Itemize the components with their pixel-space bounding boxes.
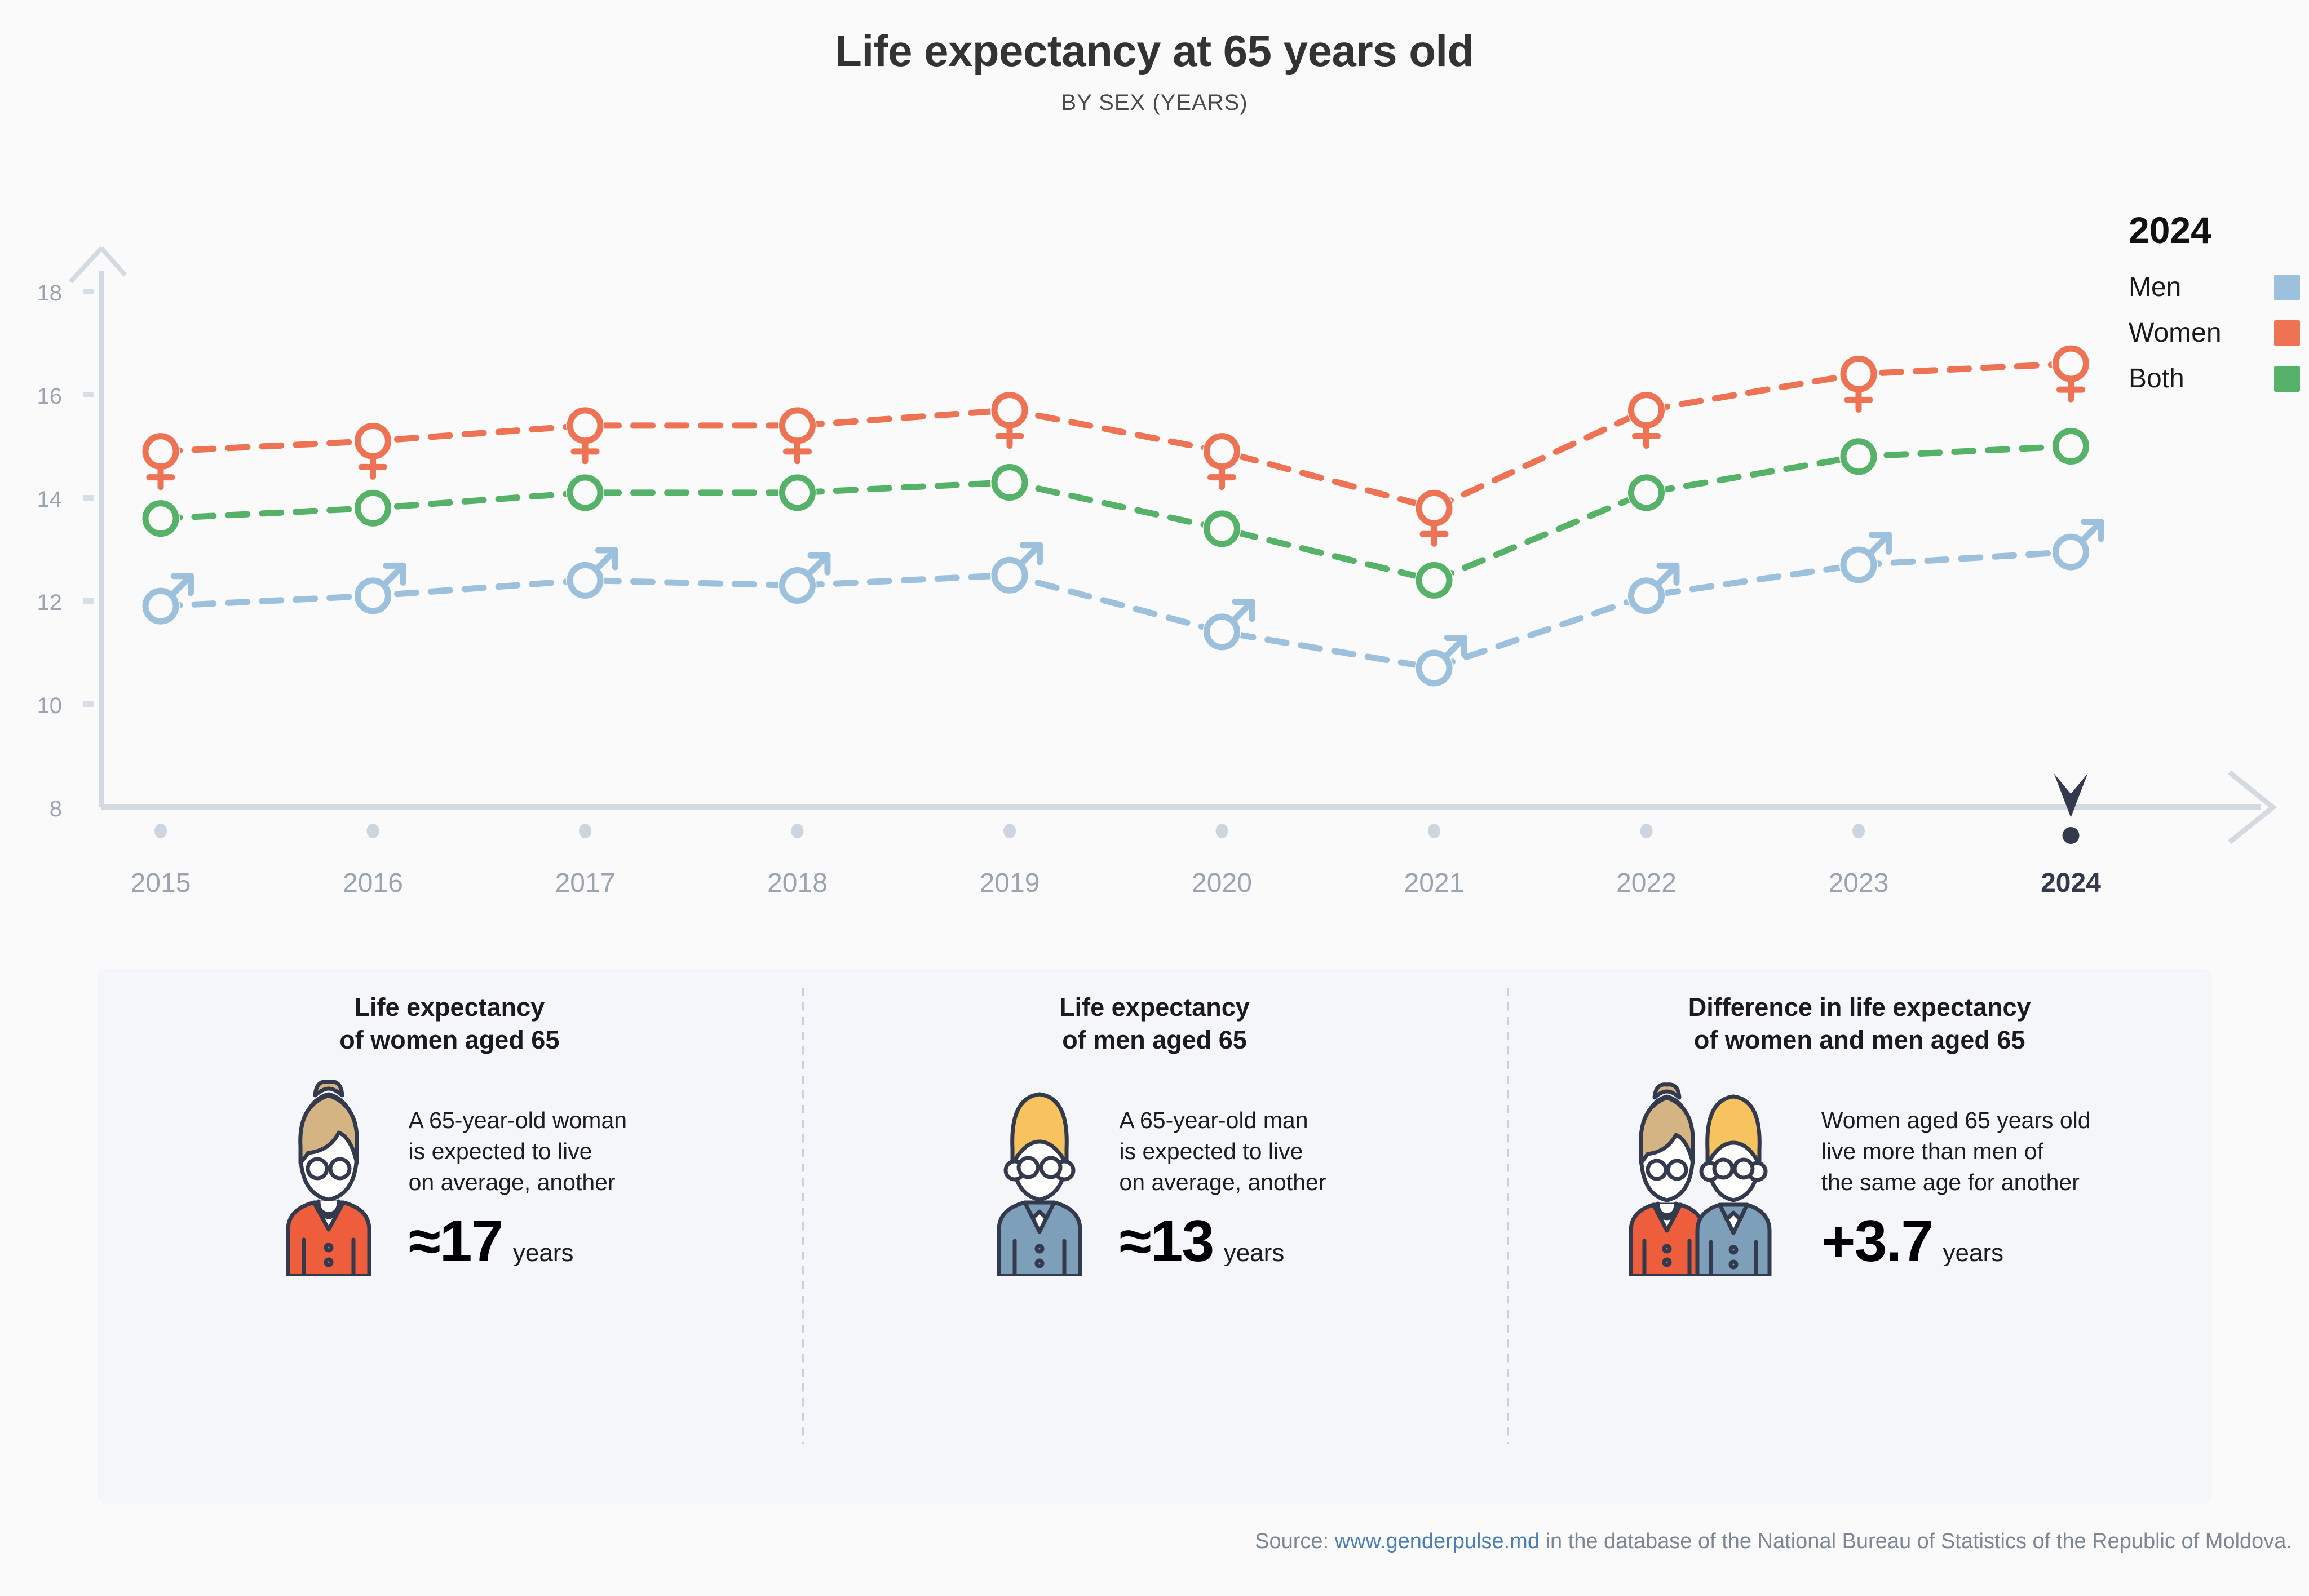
- card-title-line1: Difference in life expectancy: [1512, 991, 2206, 1024]
- card-men: Life expectancy of men aged 65: [802, 969, 1507, 1504]
- card-desc-line3: on average, another: [1120, 1167, 1326, 1198]
- svg-text:10: 10: [37, 693, 63, 718]
- card-desc-line2: is expected to live: [1120, 1136, 1326, 1167]
- svg-text:2015: 2015: [131, 868, 191, 898]
- svg-text:12: 12: [37, 590, 63, 615]
- source-prefix: Source:: [1255, 1529, 1335, 1553]
- source-suffix: in the database of the National Bureau o…: [1540, 1529, 2292, 1553]
- card-desc-line2: live more than men of: [1821, 1136, 2091, 1167]
- summary-panel: Life expectancy of women aged 65: [97, 969, 2212, 1504]
- legend-label-both: Both: [2129, 363, 2184, 394]
- source-link[interactable]: www.genderpulse.md: [1335, 1529, 1540, 1553]
- stat-value: +3.7: [1821, 1209, 1932, 1274]
- card-title-men: Life expectancy of men aged 65: [808, 991, 1502, 1056]
- card-text-men: A 65-year-old man is expected to live on…: [1120, 1105, 1326, 1279]
- card-title-women: Life expectancy of women aged 65: [103, 991, 797, 1056]
- card-body-men: A 65-year-old man is expected to live on…: [808, 1078, 1502, 1279]
- card-desc-line3: on average, another: [409, 1167, 627, 1198]
- card-women: Life expectancy of women aged 65: [97, 969, 802, 1504]
- infographic-root: Life expectancy at 65 years old BY SEX (…: [0, 0, 2309, 1596]
- svg-text:16: 16: [37, 384, 63, 409]
- legend-label-women: Women: [2129, 317, 2222, 348]
- svg-text:2019: 2019: [980, 868, 1040, 898]
- card-stat-men: ≈13 years: [1120, 1208, 1326, 1275]
- page-title: Life expectancy at 65 years old: [0, 25, 2309, 77]
- card-desc-line1: A 65-year-old man: [1120, 1105, 1326, 1136]
- svg-text:2016: 2016: [343, 868, 403, 898]
- card-body-difference: Women aged 65 years old live more than m…: [1512, 1078, 2206, 1279]
- card-text-difference: Women aged 65 years old live more than m…: [1821, 1105, 2091, 1279]
- stat-unit: years: [1943, 1239, 2004, 1267]
- svg-text:2017: 2017: [555, 868, 616, 898]
- card-title-line2: of women aged 65: [103, 1024, 797, 1056]
- stat-value: ≈13: [1120, 1209, 1214, 1274]
- card-stat-difference: +3.7 years: [1821, 1208, 2091, 1275]
- legend-item-both[interactable]: Both: [2125, 363, 2300, 394]
- summary-cards: Life expectancy of women aged 65: [97, 969, 2212, 1504]
- svg-text:2022: 2022: [1616, 868, 1677, 898]
- source-note: Source: www.genderpulse.md in the databa…: [1255, 1529, 2292, 1554]
- card-body-women: A 65-year-old woman is expected to live …: [103, 1078, 797, 1279]
- svg-text:8: 8: [50, 797, 62, 821]
- card-title-line2: of men aged 65: [808, 1024, 1502, 1056]
- card-title-difference: Difference in life expectancy of women a…: [1512, 991, 2206, 1056]
- legend-swatch-women: [2274, 320, 2300, 346]
- line-chart: 8101214161820152016201720182019202020212…: [0, 186, 2309, 936]
- card-desc-line1: Women aged 65 years old: [1821, 1105, 2091, 1136]
- card-title-line1: Life expectancy: [103, 991, 797, 1024]
- card-desc-line2: is expected to live: [409, 1136, 627, 1167]
- stat-value: ≈17: [409, 1209, 503, 1274]
- svg-text:2020: 2020: [1192, 868, 1252, 898]
- page-subtitle: BY SEX (YEARS): [0, 90, 2309, 116]
- stat-unit: years: [513, 1239, 574, 1267]
- legend-swatch-both: [2274, 366, 2300, 392]
- card-difference: Difference in life expectancy of women a…: [1507, 969, 2212, 1504]
- card-desc-line3: the same age for another: [1821, 1167, 2091, 1198]
- chart-legend: 2024 Men Women Both: [2125, 209, 2300, 409]
- stat-unit: years: [1224, 1239, 1285, 1267]
- card-stat-women: ≈17 years: [409, 1208, 627, 1275]
- svg-text:18: 18: [37, 281, 63, 306]
- svg-text:14: 14: [37, 487, 63, 512]
- svg-text:2018: 2018: [767, 868, 828, 898]
- svg-text:2023: 2023: [1829, 868, 1889, 898]
- legend-item-men[interactable]: Men: [2125, 272, 2300, 303]
- svg-text:2024: 2024: [2041, 868, 2101, 898]
- svg-text:2021: 2021: [1404, 868, 1465, 898]
- card-text-women: A 65-year-old woman is expected to live …: [409, 1105, 627, 1279]
- legend-label-men: Men: [2129, 272, 2181, 303]
- card-title-line2: of women and men aged 65: [1512, 1024, 2206, 1056]
- card-title-line1: Life expectancy: [808, 991, 1502, 1024]
- legend-year: 2024: [2125, 209, 2300, 251]
- couple-figure: [1629, 1078, 1798, 1279]
- card-desc-line1: A 65-year-old woman: [409, 1105, 627, 1136]
- legend-item-women[interactable]: Women: [2125, 317, 2300, 348]
- man-figure: [983, 1078, 1096, 1279]
- legend-swatch-men: [2274, 275, 2300, 300]
- woman-figure: [272, 1078, 385, 1279]
